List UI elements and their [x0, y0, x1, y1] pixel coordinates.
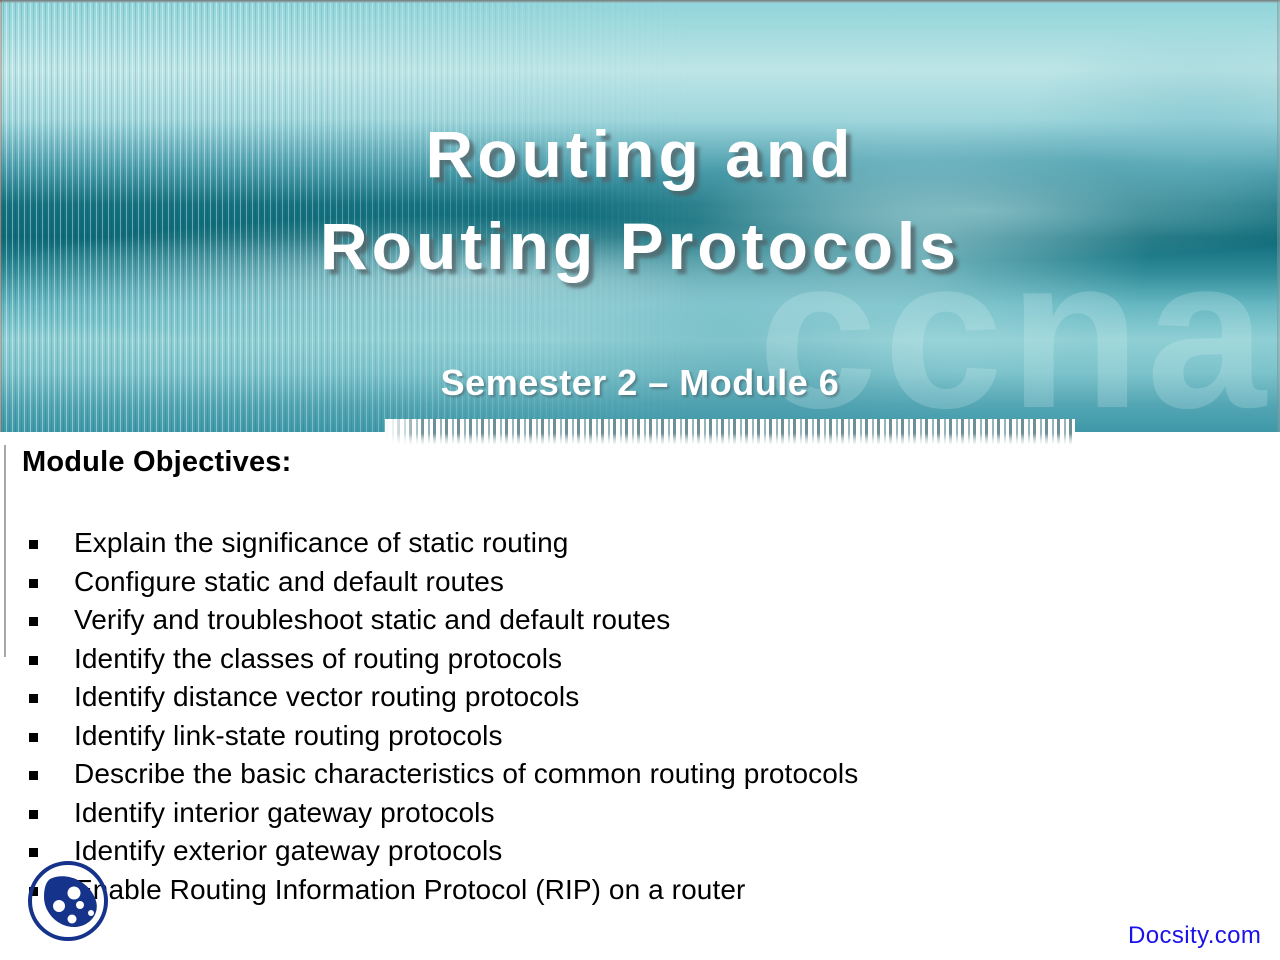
square-bullet-icon	[29, 617, 38, 626]
banner-barcode-strip	[385, 419, 1075, 445]
square-bullet-icon	[29, 540, 38, 549]
list-item-label: Enable Routing Information Protocol (RIP…	[74, 873, 745, 907]
objectives-bullet-list: Explain the significance of static routi…	[0, 524, 1280, 909]
list-item: Identify link-state routing protocols	[0, 717, 1280, 756]
square-bullet-icon	[29, 694, 38, 703]
square-bullet-icon	[29, 771, 38, 780]
barcode-left-fade	[385, 419, 425, 445]
list-item: Enable Routing Information Protocol (RIP…	[0, 871, 1280, 910]
list-item-label: Identify link-state routing protocols	[74, 719, 503, 753]
list-item-label: Identify exterior gateway protocols	[74, 834, 502, 868]
docsity-logo-icon	[24, 853, 112, 949]
list-item: Explain the significance of static routi…	[0, 524, 1280, 563]
list-item: Describe the basic characteristics of co…	[0, 755, 1280, 794]
module-objectives-heading: Module Objectives:	[22, 446, 292, 479]
presentation-slide: ccna Routing and Routing Protocols Semes…	[0, 0, 1280, 960]
list-item-label: Describe the basic characteristics of co…	[74, 757, 858, 791]
list-item-label: Identify interior gateway protocols	[74, 796, 495, 830]
list-item: Identify exterior gateway protocols	[0, 832, 1280, 871]
list-item: Configure static and default routes	[0, 563, 1280, 602]
barcode-bars	[385, 419, 1075, 445]
list-item-label: Identify distance vector routing protoco…	[74, 680, 579, 714]
list-item-label: Verify and troubleshoot static and defau…	[74, 603, 670, 637]
docsity-site-watermark: Docsity.com	[1128, 922, 1261, 950]
slide-title: Routing and Routing Protocols	[0, 108, 1280, 292]
list-item-label: Configure static and default routes	[74, 565, 504, 599]
list-item-label: Explain the significance of static routi…	[74, 526, 568, 560]
slide-subtitle: Semester 2 – Module 6	[0, 362, 1280, 404]
slide-title-line-1: Routing and	[0, 108, 1280, 200]
list-item: Identify distance vector routing protoco…	[0, 678, 1280, 717]
slide-title-line-2: Routing Protocols	[0, 200, 1280, 292]
square-bullet-icon	[29, 810, 38, 819]
banner-top-border	[0, 0, 1280, 3]
square-bullet-icon	[29, 579, 38, 588]
list-item: Verify and troubleshoot static and defau…	[0, 601, 1280, 640]
list-item-label: Identify the classes of routing protocol…	[74, 642, 562, 676]
square-bullet-icon	[29, 733, 38, 742]
square-bullet-icon	[29, 656, 38, 665]
list-item: Identify interior gateway protocols	[0, 794, 1280, 833]
list-item: Identify the classes of routing protocol…	[0, 640, 1280, 679]
